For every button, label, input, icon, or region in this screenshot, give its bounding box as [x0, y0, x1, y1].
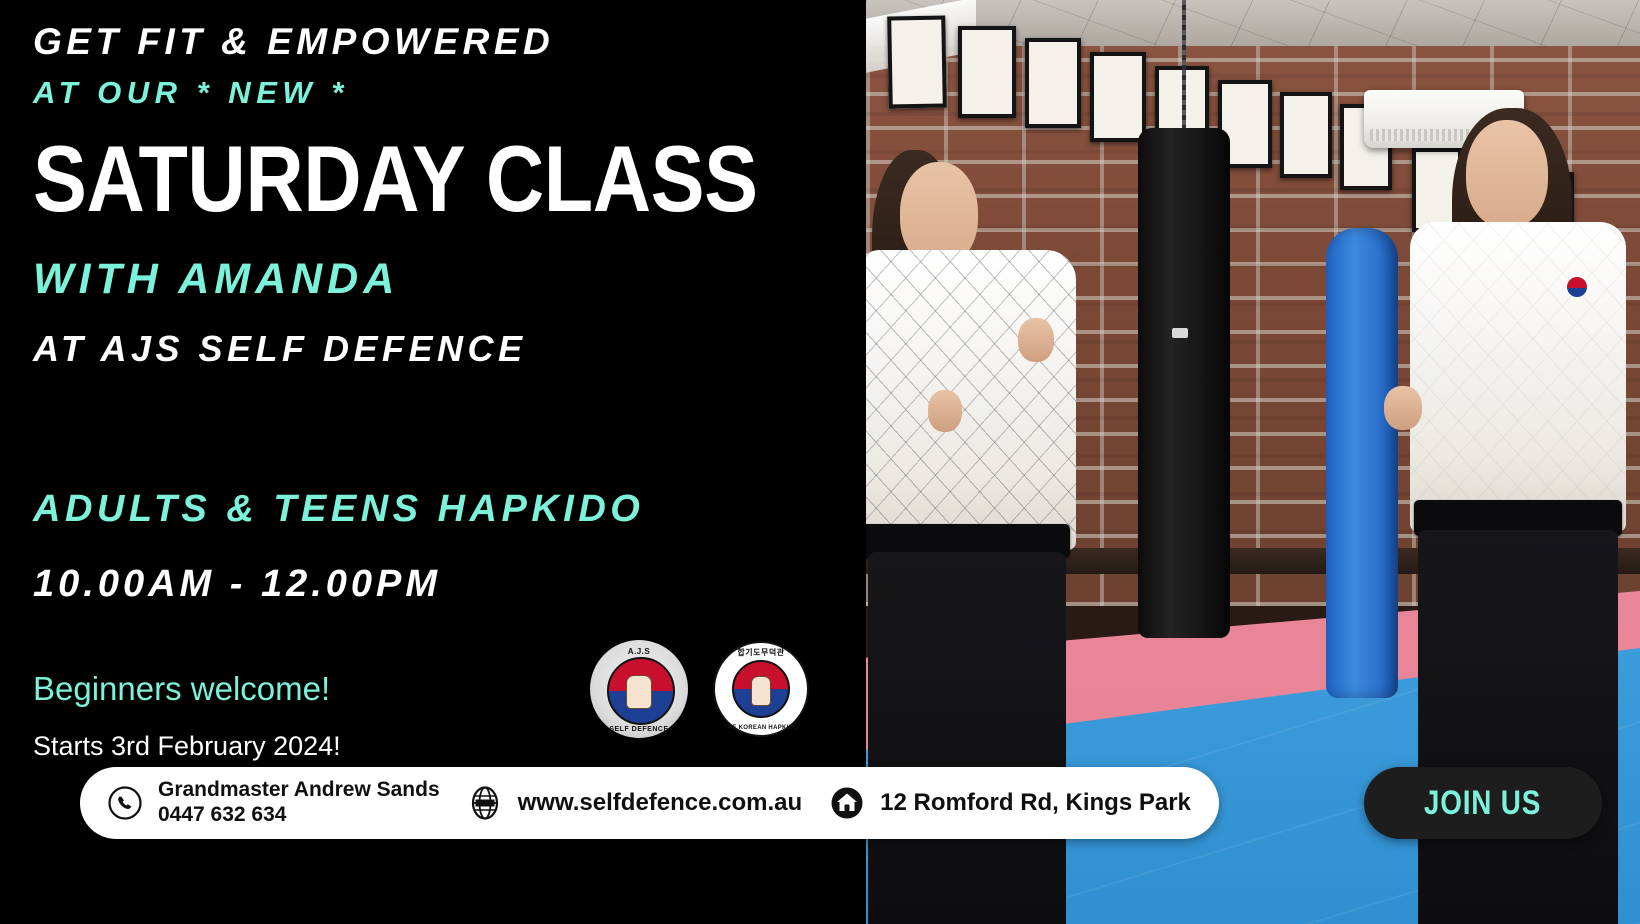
certificate-frame — [1090, 52, 1146, 142]
club-patch — [1566, 276, 1588, 298]
program-line: ADULTS & TEENS HAPKIDO — [33, 485, 866, 534]
uniform-pants — [1418, 530, 1618, 924]
uniform-jacket — [866, 250, 1076, 550]
phone-icon — [106, 784, 144, 822]
pad-holding-hand — [1384, 386, 1422, 430]
venue-line: AT AJS SELF DEFENCE — [33, 326, 866, 373]
globe-icon — [466, 784, 504, 822]
website-url: www.selfdefence.com.au — [518, 789, 803, 817]
contact-name: Grandmaster Andrew Sands — [158, 778, 440, 801]
uniform-pants — [868, 552, 1066, 924]
uniform-jacket — [1410, 222, 1626, 532]
lead-fist — [1018, 318, 1054, 362]
korean-hapkido-federation-logo-icon: 합기도무덕관 THE KOREAN HAPKIDO — [710, 638, 812, 740]
contact-phone[interactable]: Grandmaster Andrew Sands 0447 632 634 — [106, 778, 440, 828]
bag-tag — [1172, 328, 1188, 338]
instructor-line: WITH AMANDA — [33, 252, 866, 308]
khf-logo-english-text: THE KOREAN HAPKIDO — [715, 725, 807, 731]
phone-text-block: Grandmaster Andrew Sands 0447 632 634 — [158, 778, 440, 828]
contact-number: 0447 632 634 — [158, 803, 440, 828]
khf-logo-korean-text: 합기도무덕관 — [715, 647, 807, 658]
ajs-logo-bottom-text: SELF DEFENCE — [590, 726, 688, 733]
street-address: 12 Romford Rd, Kings Park — [880, 789, 1191, 817]
kicker-line-2: AT OUR * NEW * — [33, 71, 866, 116]
certificate-frame — [1280, 92, 1332, 178]
contact-bar: Grandmaster Andrew Sands 0447 632 634 ww… — [80, 767, 1219, 839]
class-times: 10.00AM - 12.00PM — [33, 560, 866, 609]
head — [1466, 120, 1548, 228]
ajs-logo-top-text: A.J.S — [590, 647, 688, 656]
hand-icon — [751, 676, 771, 706]
home-icon — [828, 784, 866, 822]
bag-chain — [1182, 0, 1186, 132]
join-us-label: JOIN US — [1424, 784, 1541, 823]
contact-website[interactable]: www.selfdefence.com.au — [466, 784, 803, 822]
poster: GET FIT & EMPOWERED AT OUR * NEW * SATUR… — [0, 0, 1640, 924]
certificate-frame — [958, 26, 1016, 118]
certificate-frame — [887, 16, 947, 109]
kick-pad — [1326, 228, 1398, 698]
logo-group: A.J.S SELF DEFENCE 합기도무덕관 THE KOREAN HAP… — [590, 638, 812, 740]
contact-address[interactable]: 12 Romford Rd, Kings Park — [828, 784, 1191, 822]
ajs-self-defence-logo-icon: A.J.S SELF DEFENCE — [590, 640, 688, 738]
punching-bag — [1138, 128, 1230, 638]
rear-fist — [928, 390, 962, 432]
page-title: SATURDAY CLASS — [33, 132, 749, 226]
join-us-button[interactable]: JOIN US — [1364, 767, 1602, 839]
kicker-line-1: GET FIT & EMPOWERED — [33, 18, 866, 65]
certificate-frame — [1025, 38, 1081, 128]
